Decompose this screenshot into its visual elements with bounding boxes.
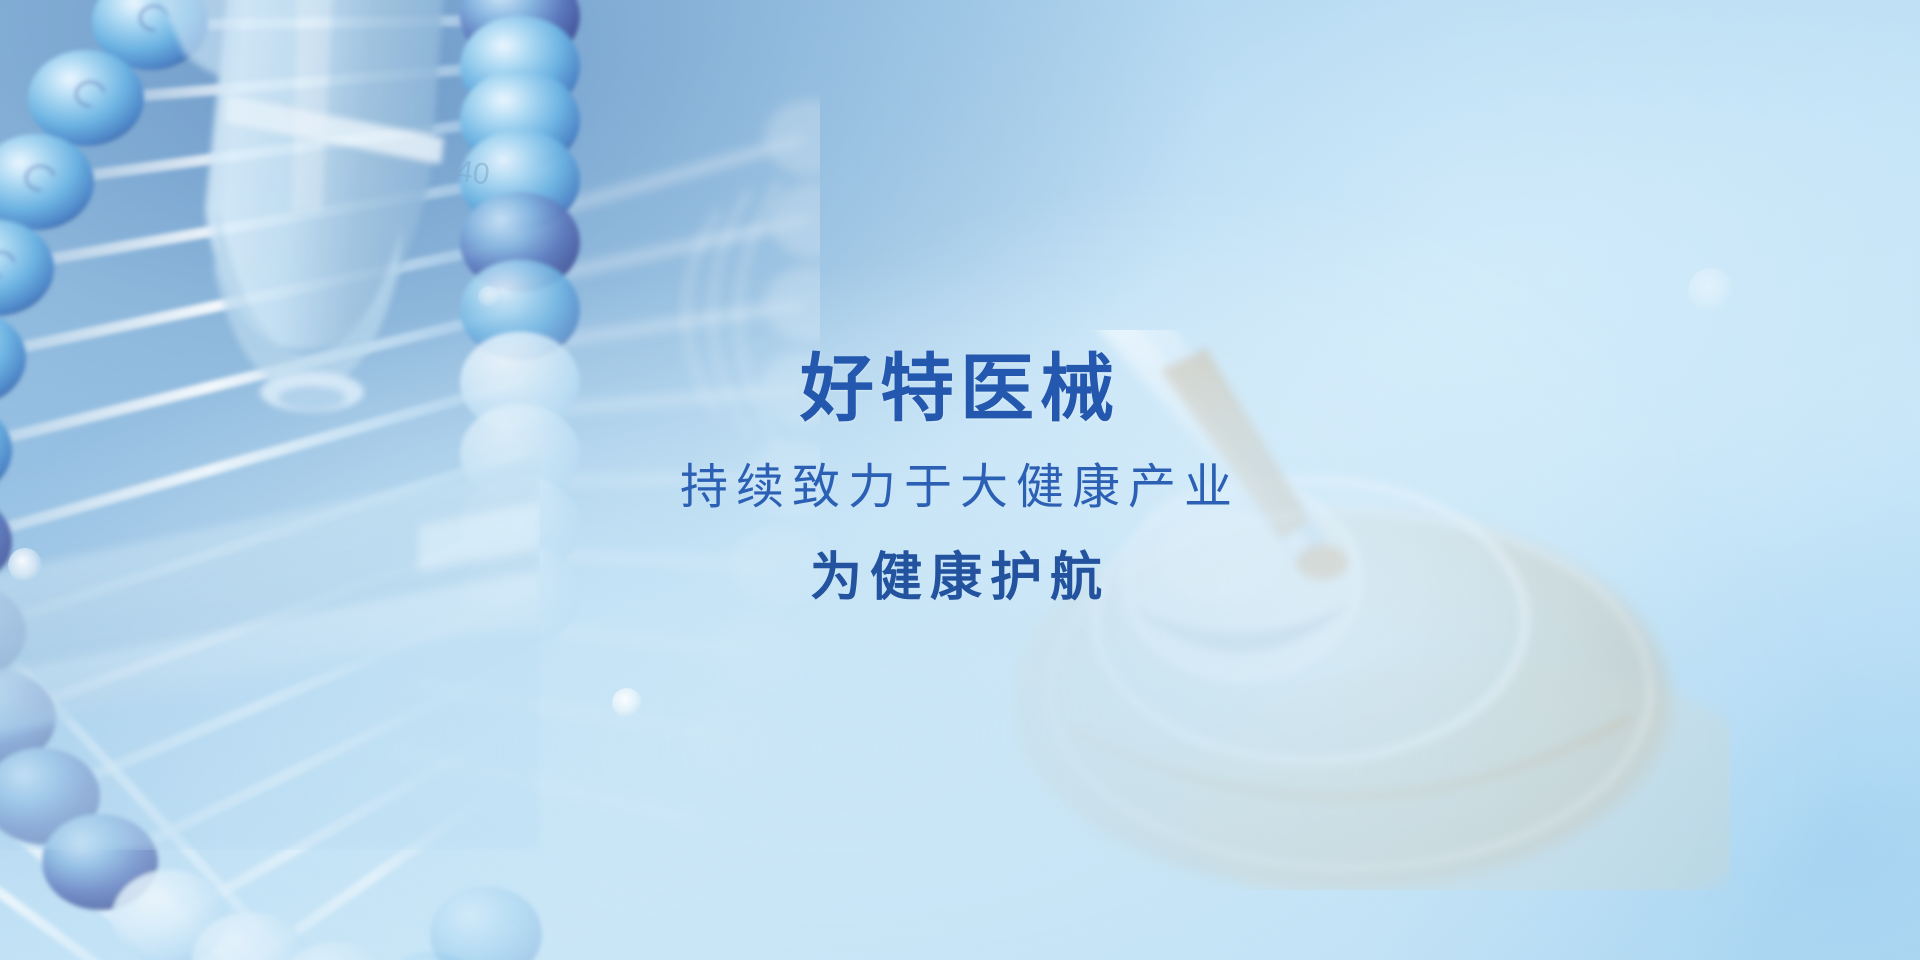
company-title: 好特医械 [0, 352, 1920, 426]
tagline-secondary: 为健康护航 [0, 552, 1920, 604]
bokeh-dot [612, 688, 642, 718]
bokeh-dot [1688, 268, 1734, 314]
bokeh-dot [478, 286, 500, 308]
tagline-primary: 持续致力于大健康产业 [0, 464, 1920, 512]
hero-text-block: 好特医械 持续致力于大健康产业 为健康护航 [0, 352, 1920, 604]
hero-banner: 40 [0, 0, 1920, 960]
microscope-magnification-label: 40 [454, 154, 492, 191]
